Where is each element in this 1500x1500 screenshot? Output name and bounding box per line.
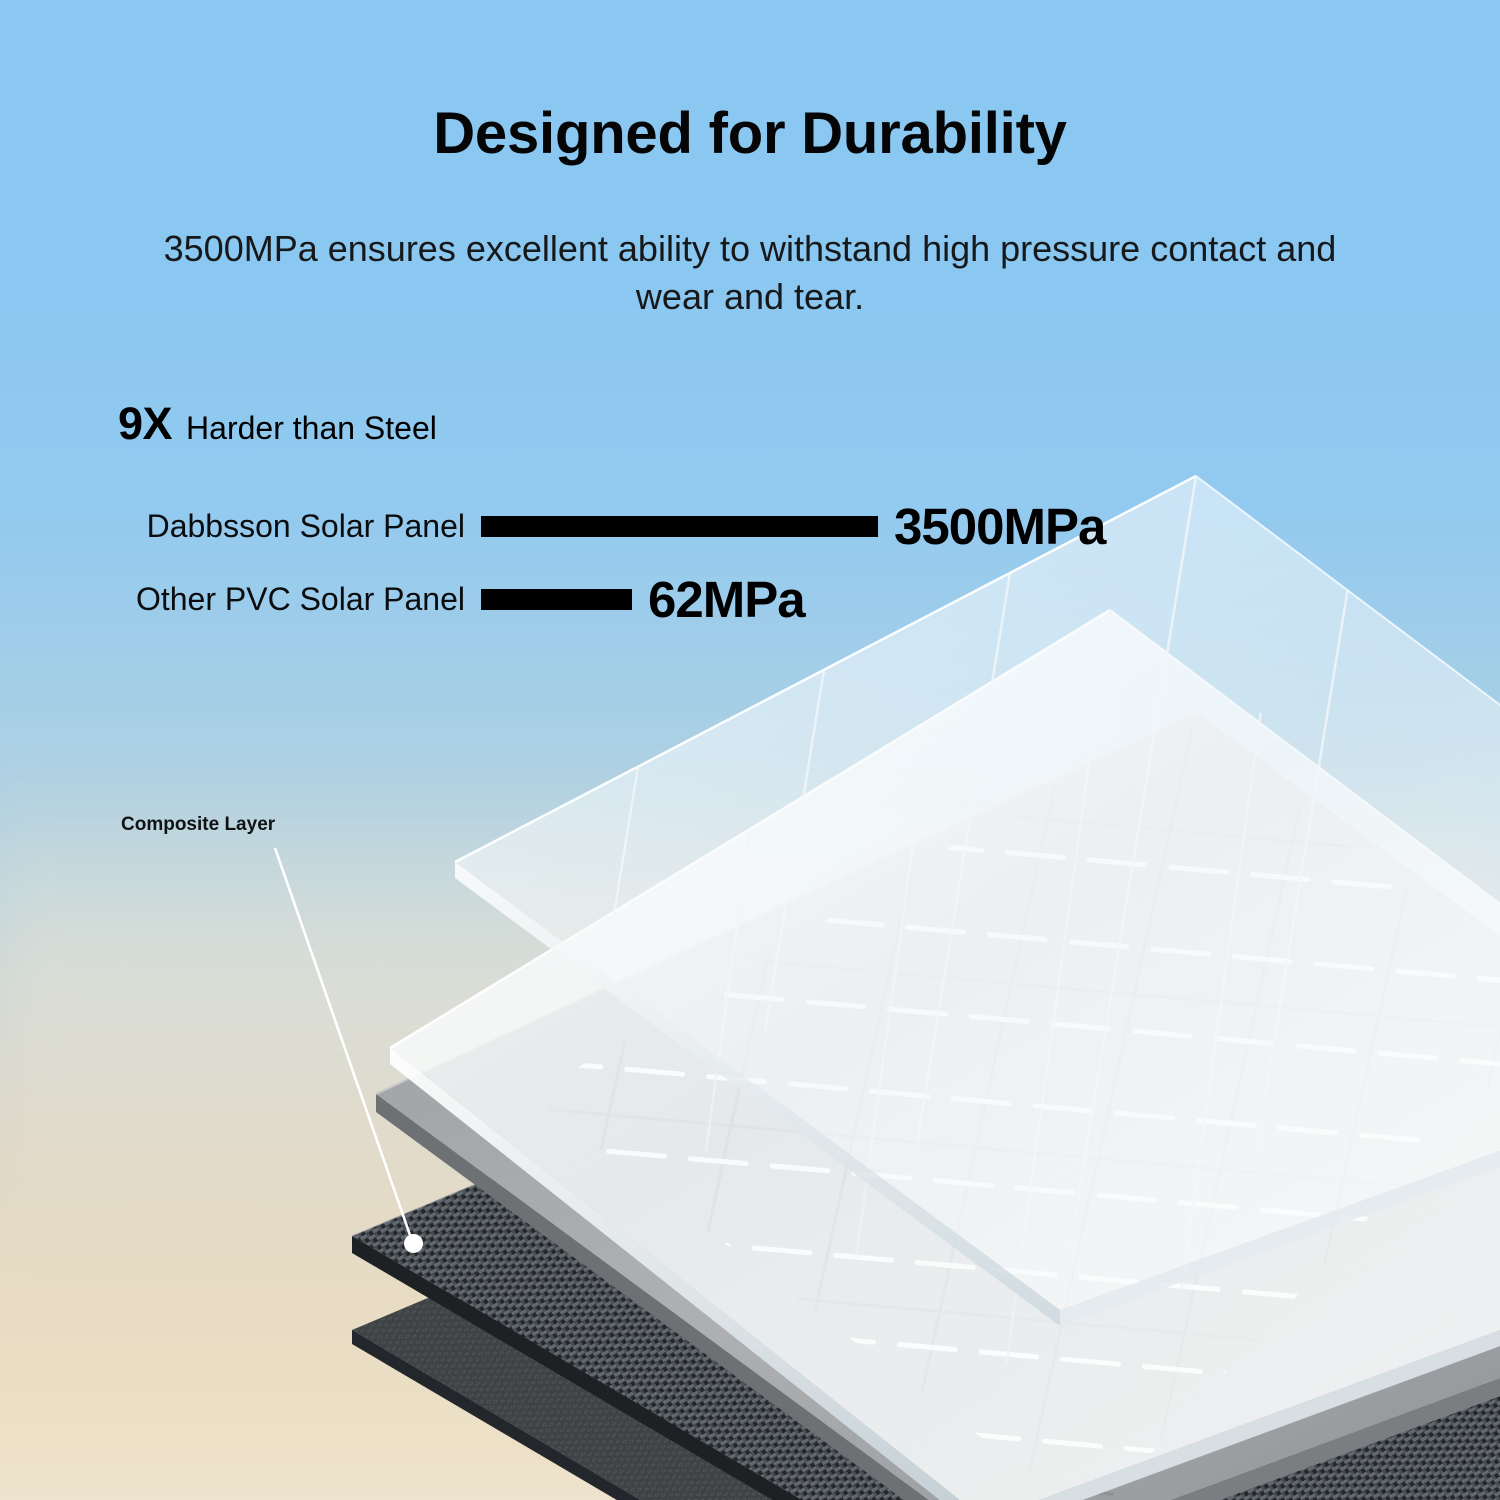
bar-row-other-pvc: Other PVC Solar Panel 62MPa (113, 570, 805, 629)
hardness-highlight: 9X Harder than Steel (118, 398, 437, 450)
composite-layer-callout-dot (404, 1234, 423, 1253)
composite-layer-callout-label: Composite Layer (121, 814, 275, 836)
bar-label-other-pvc: Other PVC Solar Panel (113, 581, 465, 618)
page-title: Designed for Durability (0, 100, 1500, 167)
infographic-canvas: Designed for Durability 3500MPa ensures … (0, 0, 1500, 1500)
bar-other-pvc (481, 589, 632, 610)
hardness-claim: Harder than Steel (186, 410, 437, 447)
bar-row-dabbsson: Dabbsson Solar Panel 3500MPa (113, 497, 1105, 556)
page-subtitle: 3500MPa ensures excellent ability to wit… (150, 225, 1350, 321)
hardness-multiplier: 9X (118, 398, 172, 450)
bar-dabbsson (481, 516, 878, 537)
bar-value-other-pvc: 62MPa (648, 570, 805, 629)
bar-value-dabbsson: 3500MPa (894, 497, 1105, 556)
bar-label-dabbsson: Dabbsson Solar Panel (113, 508, 465, 545)
